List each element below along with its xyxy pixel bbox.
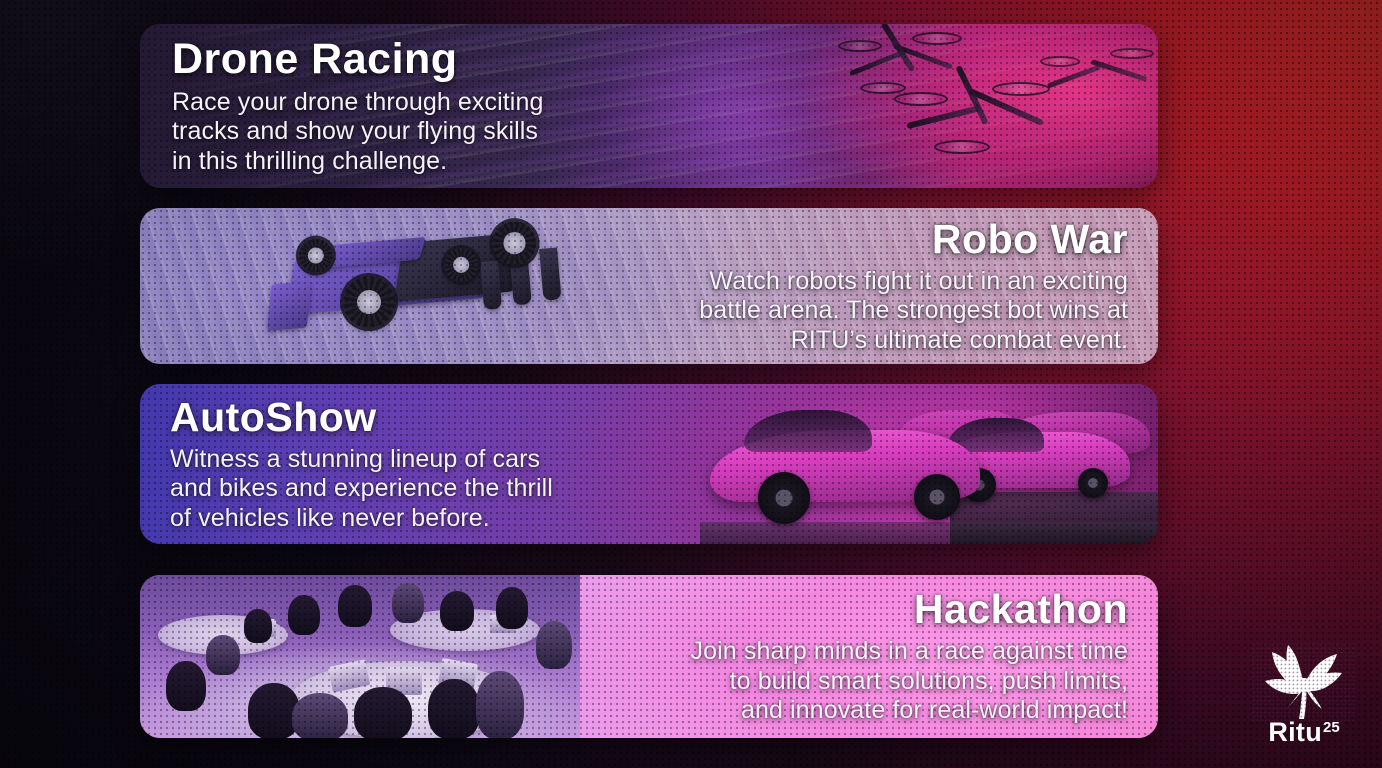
card-description: Watch robots fight it out in an exciting… xyxy=(699,267,1128,356)
robo-war-text: Robo War Watch robots fight it out in an… xyxy=(140,208,1158,364)
logo-text: Ritu xyxy=(1268,719,1322,746)
card-title: AutoShow xyxy=(170,395,377,439)
ritu-logo: Ritu 25 xyxy=(1252,643,1356,746)
ritu-petal-flower-icon xyxy=(1252,643,1356,721)
event-card-robo-war[interactable]: Robo War Watch robots fight it out in an… xyxy=(140,208,1158,364)
card-title: Robo War xyxy=(932,217,1128,261)
event-card-list: Drone Racing Race your drone through exc… xyxy=(140,0,1158,768)
card-description: Join sharp minds in a race against time … xyxy=(691,637,1128,726)
ritu-wordmark: Ritu 25 xyxy=(1252,719,1356,746)
card-title: Drone Racing xyxy=(172,36,458,82)
hackathon-text: Hackathon Join sharp minds in a race aga… xyxy=(140,575,1158,738)
event-card-hackathon[interactable]: Hackathon Join sharp minds in a race aga… xyxy=(140,575,1158,738)
card-title: Hackathon xyxy=(914,587,1128,631)
event-card-autoshow[interactable]: AutoShow Witness a stunning lineup of ca… xyxy=(140,384,1158,544)
drone-racing-text: Drone Racing Race your drone through exc… xyxy=(140,24,1158,188)
card-description: Race your drone through exciting tracks … xyxy=(172,88,543,177)
autoshow-text: AutoShow Witness a stunning lineup of ca… xyxy=(140,384,1158,544)
event-card-drone-racing[interactable]: Drone Racing Race your drone through exc… xyxy=(140,24,1158,188)
logo-year: 25 xyxy=(1323,720,1340,735)
card-description: Witness a stunning lineup of cars and bi… xyxy=(170,445,553,534)
